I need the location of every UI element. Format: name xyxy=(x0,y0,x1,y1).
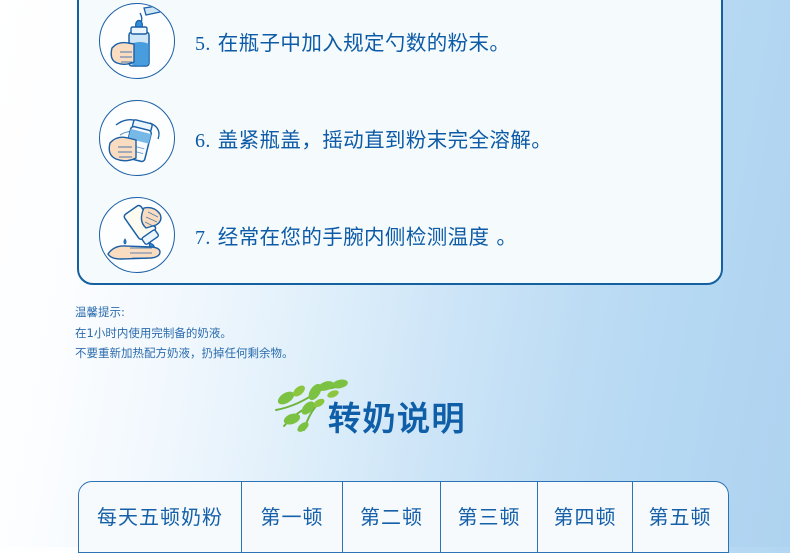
tips-line: 不要重新加热配方奶液，扔掉任何剩余物。 xyxy=(75,343,595,364)
steps-panel: 5. 在瓶子中加入规定勺数的粉末。 xyxy=(77,0,723,285)
step-label: 盖紧瓶盖，摇动直到粉末完全溶解。 xyxy=(218,128,552,152)
tips-line: 在1小时内使用完制备的奶液。 xyxy=(75,323,595,344)
step-icon-container xyxy=(79,100,195,176)
bottle-dripping-onto-wrist-icon xyxy=(99,197,175,273)
table-header-cell: 第三顿 xyxy=(441,482,538,552)
bottle-powder-svg xyxy=(100,4,174,78)
step-number: 6. xyxy=(195,130,211,152)
page-title: 转奶说明 xyxy=(328,392,466,440)
step-row: 5. 在瓶子中加入规定勺数的粉末。 xyxy=(79,0,721,89)
step-label: 经常在您的手腕内侧检测温度 。 xyxy=(218,225,518,249)
table-header-cell: 第二顿 xyxy=(343,482,441,552)
step-number: 5. xyxy=(195,33,211,55)
table-header-cell: 每天五顿奶粉 xyxy=(79,482,242,552)
step-number: 7. xyxy=(195,227,211,249)
milk-schedule-table: 每天五顿奶粉 第一顿 第二顿 第三顿 第四顿 第五顿 xyxy=(78,481,729,553)
tips-block: 温馨提示: 在1小时内使用完制备的奶液。 不要重新加热配方奶液，扔掉任何剩余物。 xyxy=(75,302,595,364)
shake-bottle-svg xyxy=(100,101,174,175)
hand-shaking-capped-bottle-icon xyxy=(99,100,175,176)
table-header-cell: 第五顿 xyxy=(633,482,727,552)
hand-holding-bottle-adding-powder-icon xyxy=(99,3,175,79)
step-row: 7. 经常在您的手腕内侧检测温度 。 xyxy=(79,186,721,283)
step-row: 6. 盖紧瓶盖，摇动直到粉末完全溶解。 xyxy=(79,89,721,186)
wrist-test-svg xyxy=(100,198,174,272)
tips-title: 温馨提示: xyxy=(75,302,595,323)
table-header-cell: 第四顿 xyxy=(538,482,633,552)
step-text: 7. 经常在您的手腕内侧检测温度 。 xyxy=(195,220,517,250)
table-header-cell: 第一顿 xyxy=(242,482,343,552)
step-icon-container xyxy=(79,3,195,79)
section-heading: 转奶说明 xyxy=(270,378,530,444)
step-text: 5. 在瓶子中加入规定勺数的粉末。 xyxy=(195,26,510,56)
step-label: 在瓶子中加入规定勺数的粉末。 xyxy=(218,31,511,55)
step-icon-container xyxy=(79,197,195,273)
step-text: 6. 盖紧瓶盖，摇动直到粉末完全溶解。 xyxy=(195,123,552,153)
